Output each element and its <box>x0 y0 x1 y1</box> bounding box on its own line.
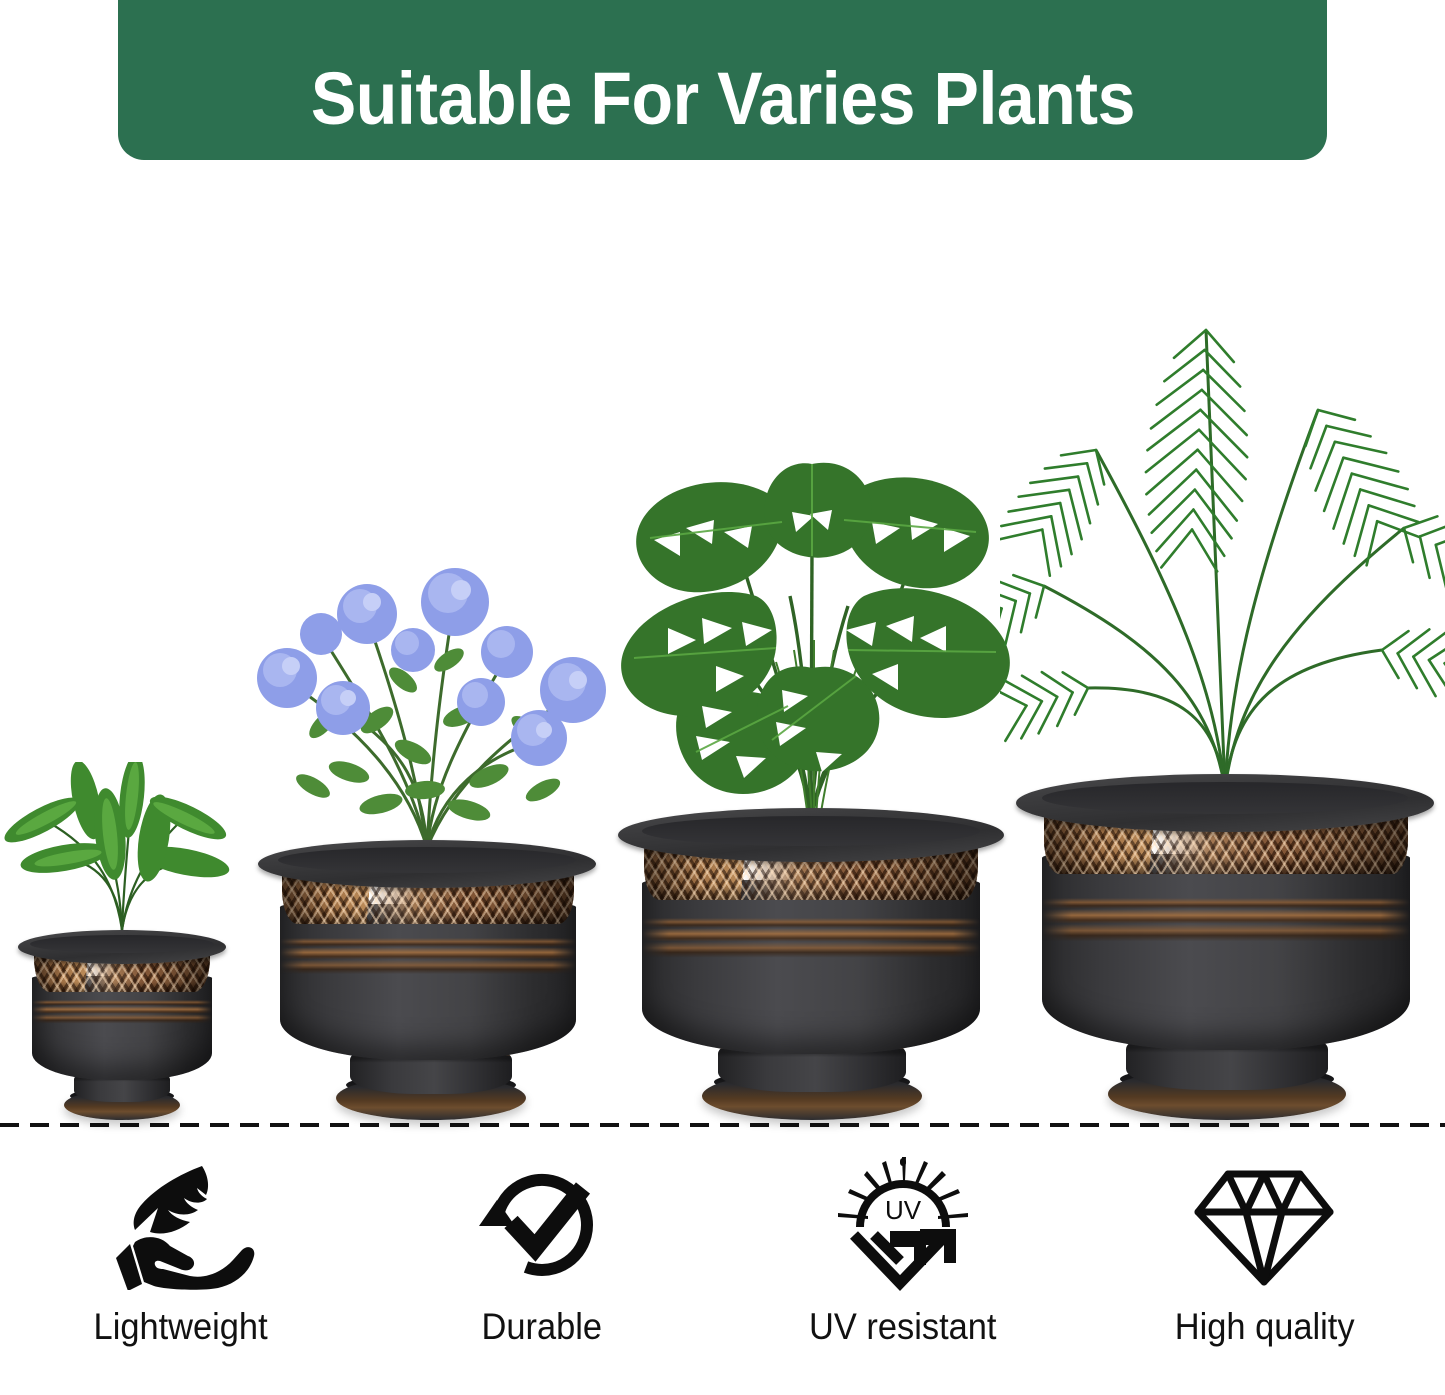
planter-body <box>1042 854 1410 1050</box>
copper-stripe-band <box>642 918 980 962</box>
planter-large[interactable] <box>618 808 1004 1120</box>
feature-lightweight: Lightweight <box>0 1150 361 1348</box>
copper-stripe-band <box>32 1000 212 1026</box>
planter-group-small[interactable] <box>18 190 226 1120</box>
planter-rim <box>18 930 226 964</box>
copper-stripe-band <box>280 938 576 978</box>
planter-rim-inner <box>1042 782 1408 814</box>
product-showcase <box>0 160 1445 1120</box>
feature-label: High quality <box>1174 1306 1354 1348</box>
feature-high-quality: High quality <box>1084 1150 1445 1348</box>
diamond-icon <box>1189 1150 1339 1300</box>
planter-body <box>642 880 980 1054</box>
monstera-plant <box>576 400 1046 820</box>
planter-body <box>280 904 576 1060</box>
feature-label: Durable <box>482 1306 603 1348</box>
feature-uv-resistant: UV UV resistant <box>723 1150 1084 1348</box>
planter-rim <box>618 808 1004 862</box>
feature-list: Lightweight Durable <box>0 1150 1445 1395</box>
uv-badge-text: UV <box>885 1195 922 1225</box>
planter-small[interactable] <box>18 930 226 1120</box>
header-banner: Suitable For Varies Plants <box>118 0 1327 160</box>
planter-medium[interactable] <box>258 840 596 1120</box>
areca-palm <box>1000 290 1445 790</box>
copper-stripe-band <box>1042 898 1410 946</box>
planter-group-extra-large[interactable] <box>1016 190 1434 1120</box>
planter-group-medium[interactable] <box>258 190 596 1120</box>
circular-arrow-check-icon <box>477 1150 607 1300</box>
planter-group-large[interactable] <box>618 190 1004 1120</box>
planter-rim <box>258 840 596 888</box>
feature-label: UV resistant <box>809 1306 996 1348</box>
hand-feather-icon <box>106 1150 256 1300</box>
planter-rim-inner <box>30 935 214 953</box>
planter-extra-large[interactable] <box>1016 774 1434 1120</box>
uv-sun-shield-icon: UV <box>828 1150 978 1300</box>
planter-rim-inner <box>278 847 576 873</box>
planter-rim <box>1016 774 1434 832</box>
planter-rim-inner <box>642 816 980 846</box>
purple-flowering-shrub <box>217 490 637 850</box>
section-divider <box>0 1123 1445 1127</box>
feature-label: Lightweight <box>94 1306 268 1348</box>
page-title: Suitable For Varies Plants <box>310 62 1134 136</box>
feature-durable: Durable <box>361 1150 722 1348</box>
